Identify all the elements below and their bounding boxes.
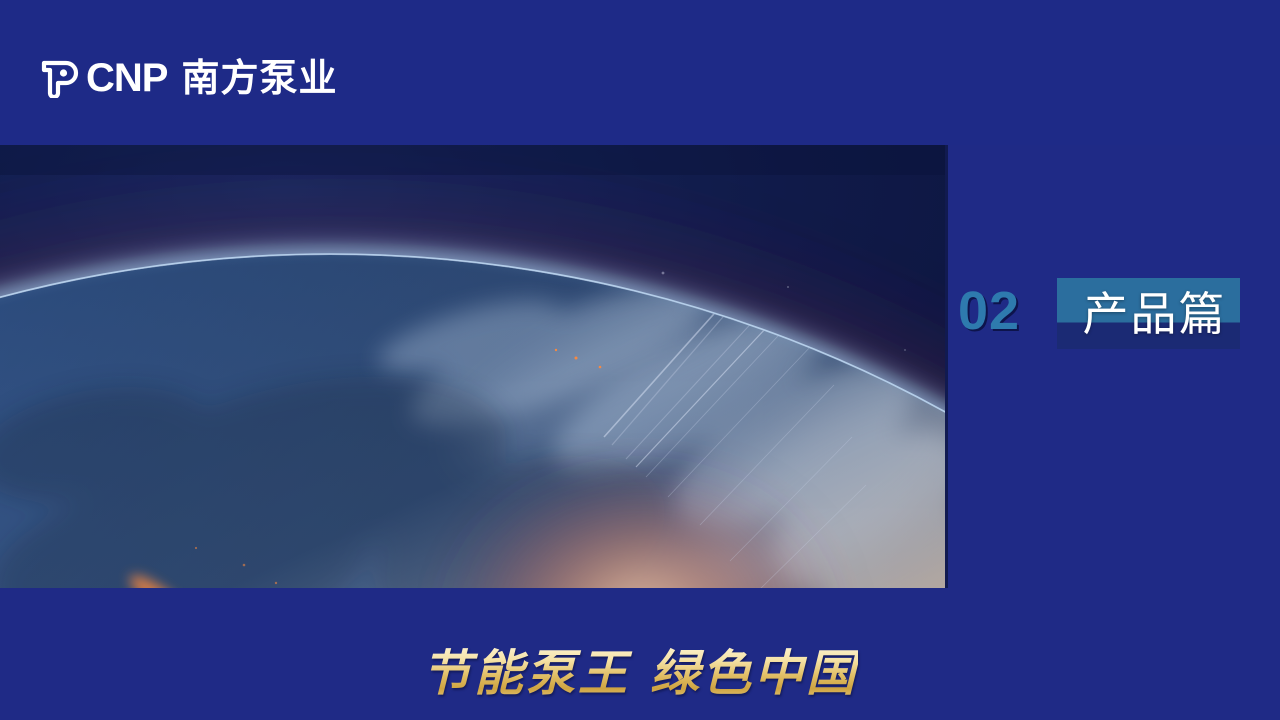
earth-illustration [0,145,945,588]
header-bar: CNP 南方泵业 [0,0,1280,145]
footer-slogan: 节能泵王 绿色中国 [0,626,1280,720]
cnp-p-monogram-icon [40,58,80,98]
logo-latin-text: CNP [86,58,167,98]
section-number: 02 [958,284,1020,338]
section-marker: 02 产品篇 [945,145,1280,588]
slogan-text: 节能泵王 绿色中国 [422,643,858,703]
section-title: 产品篇 [1063,278,1246,349]
logo-chinese-text: 南方泵业 [181,58,337,98]
presentation-slide: CNP 南方泵业 [0,0,1280,720]
earth-from-space-image [0,145,945,588]
company-logo: CNP 南方泵业 [40,52,337,104]
